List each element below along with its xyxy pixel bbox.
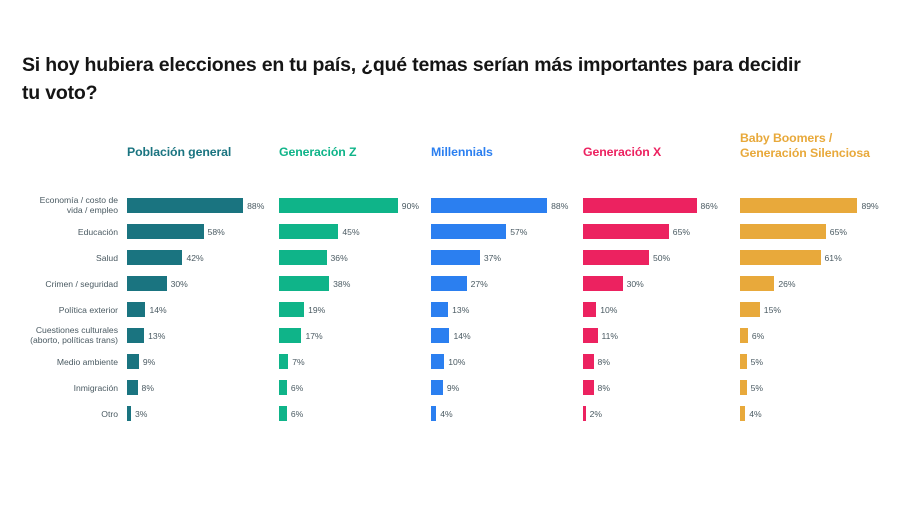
- bar-value-label: 4%: [749, 409, 761, 419]
- bar-value-label: 9%: [447, 383, 459, 393]
- bar: [740, 406, 745, 421]
- bar: [127, 224, 204, 239]
- bar-group: 13%: [127, 328, 165, 343]
- bar-value-label: 2%: [590, 409, 602, 419]
- bar: [279, 250, 327, 265]
- bar-value-label: 65%: [830, 227, 847, 237]
- bar-value-label: 10%: [448, 357, 465, 367]
- bar-value-label: 26%: [778, 279, 795, 289]
- bar-value-label: 90%: [402, 201, 419, 211]
- bar: [583, 250, 649, 265]
- bar-group: 38%: [279, 276, 350, 291]
- bar-value-label: 4%: [440, 409, 452, 419]
- bar: [431, 276, 467, 291]
- bar-group: 6%: [740, 328, 764, 343]
- bar: [127, 328, 144, 343]
- bar-group: 19%: [279, 302, 325, 317]
- bar-value-label: 8%: [598, 383, 610, 393]
- bar: [127, 198, 243, 213]
- bar-value-label: 7%: [292, 357, 304, 367]
- bar: [279, 276, 329, 291]
- bar: [431, 302, 448, 317]
- bar: [740, 354, 747, 369]
- bar-group: 4%: [740, 406, 762, 421]
- bar-group: 11%: [583, 328, 618, 343]
- bar-value-label: 17%: [305, 331, 322, 341]
- bar: [279, 302, 304, 317]
- bar-group: 15%: [740, 302, 781, 317]
- bar-group: 61%: [740, 250, 842, 265]
- bar-value-label: 30%: [627, 279, 644, 289]
- bar-value-label: 13%: [148, 331, 165, 341]
- bar-group: 4%: [431, 406, 453, 421]
- bar-group: 27%: [431, 276, 488, 291]
- bar-value-label: 57%: [510, 227, 527, 237]
- bar: [740, 328, 748, 343]
- bar: [583, 224, 669, 239]
- bar-value-label: 3%: [135, 409, 147, 419]
- bar: [740, 380, 747, 395]
- bar: [583, 276, 623, 291]
- bar-group: 30%: [583, 276, 644, 291]
- panel-header-1: Población general: [127, 145, 231, 160]
- bar-value-label: 45%: [342, 227, 359, 237]
- bar-value-label: 6%: [752, 331, 764, 341]
- bar-group: 88%: [431, 198, 568, 213]
- bar-value-label: 10%: [600, 305, 617, 315]
- bar: [583, 354, 594, 369]
- bar: [127, 354, 139, 369]
- bar-group: 3%: [127, 406, 147, 421]
- bar-group: 7%: [279, 354, 305, 369]
- bar-group: 10%: [431, 354, 465, 369]
- bar: [740, 276, 774, 291]
- plot-area: 88%58%42%30%14%13%9%8%3%90%45%36%38%19%1…: [0, 193, 900, 445]
- bar-value-label: 36%: [331, 253, 348, 263]
- bar-value-label: 9%: [143, 357, 155, 367]
- bar-value-label: 14%: [453, 331, 470, 341]
- bar-group: 13%: [431, 302, 469, 317]
- bar-value-label: 5%: [751, 357, 763, 367]
- bar: [431, 354, 444, 369]
- bar: [583, 380, 594, 395]
- bar: [431, 198, 547, 213]
- bar-value-label: 19%: [308, 305, 325, 315]
- bar-group: 89%: [740, 198, 879, 213]
- bar-group: 5%: [740, 354, 763, 369]
- bar-group: 14%: [431, 328, 471, 343]
- bar-value-label: 58%: [208, 227, 225, 237]
- bar-group: 9%: [127, 354, 155, 369]
- bar: [740, 250, 821, 265]
- bar: [279, 354, 288, 369]
- bar-group: 9%: [431, 380, 459, 395]
- small-multiples-bar-chart: Población generalGeneración ZMillennials…: [0, 145, 900, 445]
- bar-group: 30%: [127, 276, 188, 291]
- bar-group: 8%: [583, 380, 610, 395]
- bar-value-label: 88%: [247, 201, 264, 211]
- bar: [740, 302, 760, 317]
- bar: [279, 328, 301, 343]
- bar-group: 5%: [740, 380, 763, 395]
- bar: [127, 250, 182, 265]
- bar-value-label: 14%: [149, 305, 166, 315]
- bar: [740, 224, 826, 239]
- bar-group: 65%: [583, 224, 690, 239]
- bar-value-label: 89%: [861, 201, 878, 211]
- bar-value-label: 86%: [701, 201, 718, 211]
- bar-group: 36%: [279, 250, 348, 265]
- bar-group: 10%: [583, 302, 617, 317]
- bar-group: 86%: [583, 198, 718, 213]
- bar-value-label: 6%: [291, 409, 303, 419]
- panel-header-4: Generación X: [583, 145, 661, 160]
- bar: [740, 198, 857, 213]
- bar-value-label: 8%: [598, 357, 610, 367]
- bar-group: 37%: [431, 250, 501, 265]
- bar-value-label: 88%: [551, 201, 568, 211]
- bar: [279, 380, 287, 395]
- bar-group: 90%: [279, 198, 419, 213]
- bar: [583, 198, 697, 213]
- bar: [583, 328, 598, 343]
- bar: [431, 380, 443, 395]
- bar-group: 6%: [279, 406, 303, 421]
- panel-header-5: Baby Boomers / Generación Silenciosa: [740, 131, 870, 161]
- bar: [127, 302, 145, 317]
- bar-group: 8%: [583, 354, 610, 369]
- bar-value-label: 50%: [653, 253, 670, 263]
- bar-value-label: 8%: [142, 383, 154, 393]
- bar-group: 88%: [127, 198, 264, 213]
- bar-group: 57%: [431, 224, 527, 239]
- bar: [279, 198, 398, 213]
- bar: [583, 302, 596, 317]
- bar-group: 2%: [583, 406, 602, 421]
- bar-value-label: 6%: [291, 383, 303, 393]
- bar-group: 45%: [279, 224, 360, 239]
- bar: [431, 250, 480, 265]
- bar-value-label: 15%: [764, 305, 781, 315]
- bar: [431, 328, 449, 343]
- bar: [127, 276, 167, 291]
- bar-group: 26%: [740, 276, 796, 291]
- bar-group: 42%: [127, 250, 204, 265]
- bar: [431, 224, 506, 239]
- bar-value-label: 38%: [333, 279, 350, 289]
- page-title: Si hoy hubiera elecciones en tu país, ¿q…: [22, 52, 812, 107]
- bar-value-label: 42%: [186, 253, 203, 263]
- bar-value-label: 37%: [484, 253, 501, 263]
- bar-group: 14%: [127, 302, 167, 317]
- bar-value-label: 11%: [602, 331, 619, 341]
- bar-group: 17%: [279, 328, 323, 343]
- bar: [279, 224, 338, 239]
- bar: [127, 380, 138, 395]
- bar-value-label: 30%: [171, 279, 188, 289]
- bar-value-label: 13%: [452, 305, 469, 315]
- bar: [279, 406, 287, 421]
- bar-value-label: 65%: [673, 227, 690, 237]
- bar-value-label: 61%: [825, 253, 842, 263]
- panel-header-2: Generación Z: [279, 145, 356, 160]
- panel-header-3: Millennials: [431, 145, 493, 160]
- bar-group: 58%: [127, 224, 225, 239]
- bar: [431, 406, 436, 421]
- bar-group: 6%: [279, 380, 303, 395]
- bar-group: 65%: [740, 224, 847, 239]
- bar: [127, 406, 131, 421]
- bar-value-label: 5%: [751, 383, 763, 393]
- bar-group: 50%: [583, 250, 670, 265]
- bar-value-label: 27%: [471, 279, 488, 289]
- bar: [583, 406, 586, 421]
- bar-group: 8%: [127, 380, 154, 395]
